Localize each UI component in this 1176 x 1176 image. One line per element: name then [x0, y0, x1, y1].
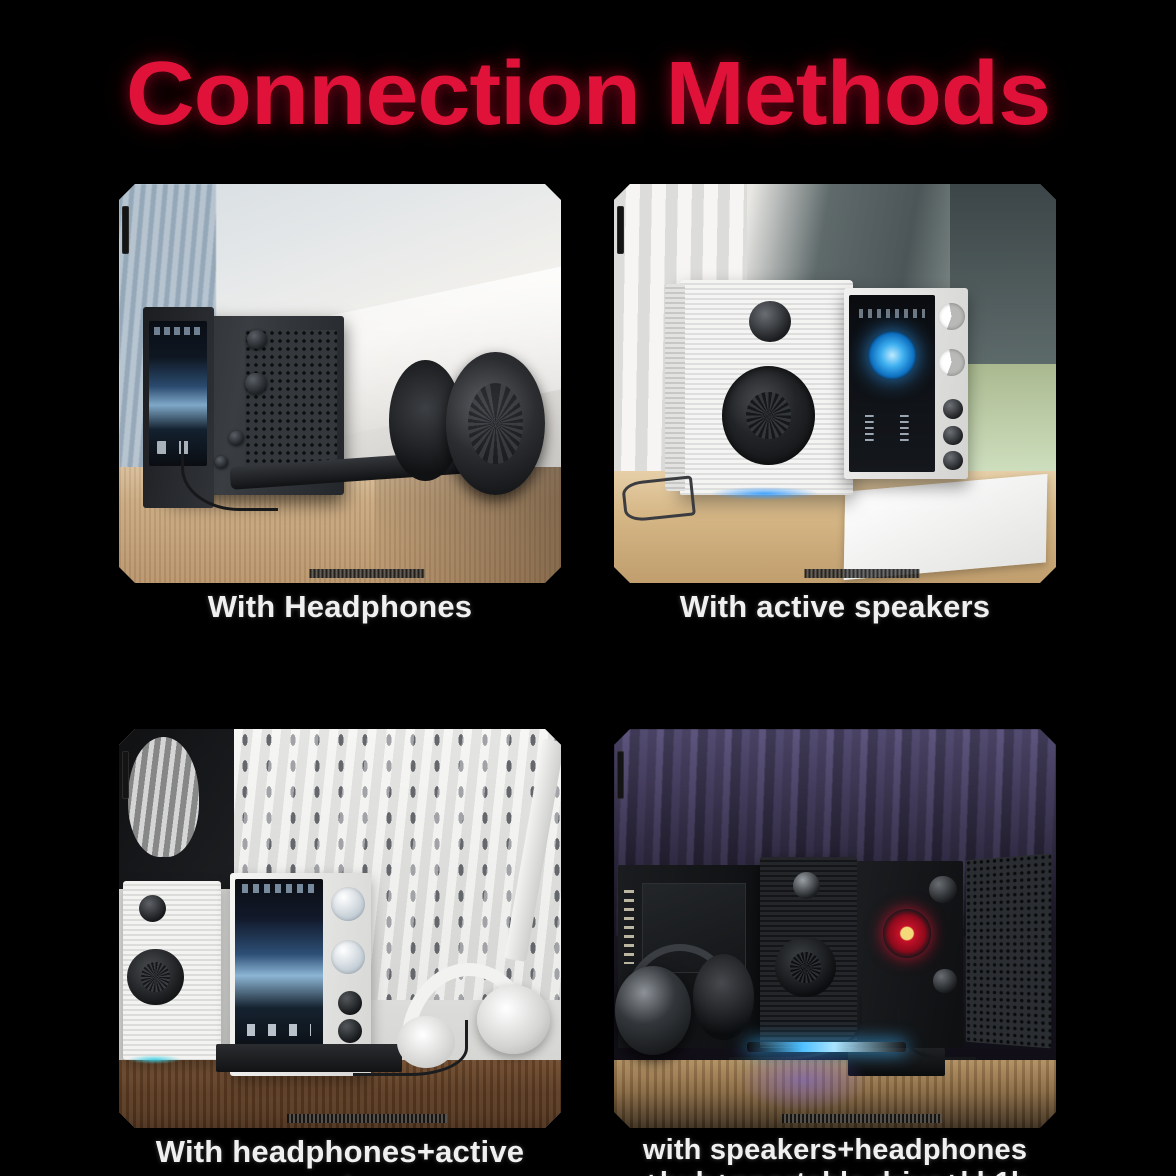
speaker-tweeter — [139, 895, 166, 922]
player-screen — [849, 295, 936, 471]
status-bar-icon — [859, 309, 925, 318]
panel-full-setup-photo[interactable] — [614, 729, 1056, 1128]
panel-active-speakers[interactable]: With active speakers — [614, 184, 1056, 583]
scene-active-speakers — [614, 184, 1056, 583]
volume-knob — [247, 330, 266, 349]
speaker-woofer — [722, 366, 815, 465]
player-port-3 — [943, 451, 963, 471]
headphones — [389, 352, 548, 496]
wall-logo-icon — [128, 737, 199, 857]
white-headphones — [397, 960, 556, 1072]
panel-grid: With Headphones — [0, 184, 1176, 1176]
frame-strip-icon — [309, 569, 424, 578]
scene-full-setup — [614, 729, 1056, 1128]
panel-row-1: With Headphones — [0, 184, 1176, 656]
frame-strip-icon — [287, 1114, 447, 1123]
white-speaker — [123, 881, 220, 1061]
speaker-side-panel — [665, 284, 686, 491]
blue-orb-indicator — [868, 331, 917, 380]
scene-headphones-speakers — [119, 729, 561, 1128]
amp-knob-bottom — [933, 969, 956, 992]
dock-port-1 — [338, 991, 362, 1015]
dock-button-middle — [331, 940, 365, 974]
gain-knob — [245, 373, 266, 394]
scene-headphones — [119, 184, 561, 583]
speaker-led-glow — [127, 1055, 181, 1064]
panel-headphones-speakers[interactable]: With headphones+active speakers — [119, 729, 561, 1128]
player-port-1 — [943, 399, 963, 419]
headphone-earcup-near — [615, 966, 691, 1055]
page-title: Connection Methods — [126, 46, 1050, 142]
frame-strip-icon — [782, 1114, 942, 1123]
panel-headphones-speakers-photo[interactable] — [119, 729, 561, 1128]
speaker-led-glow — [711, 487, 818, 500]
headphone-earcup-near — [446, 352, 545, 496]
frame-tab-icon — [122, 206, 129, 254]
panel-headphones-speakers-caption: With headphones+active speakers — [119, 1134, 561, 1176]
player-screen — [235, 879, 323, 1058]
red-badge-icon — [883, 909, 932, 958]
frame-tab-icon — [617, 206, 624, 254]
dock-button-top — [331, 887, 365, 921]
panel-active-speakers-photo[interactable] — [614, 184, 1056, 583]
speaker-tweeter — [749, 301, 790, 342]
connection-methods-infographic: Connection Methods — [0, 0, 1176, 1176]
panel-headphones-photo[interactable] — [119, 184, 561, 583]
audio-player — [844, 288, 968, 480]
player-port-2 — [943, 426, 963, 446]
frame-tab-icon — [617, 751, 624, 799]
ambient-led-glow — [738, 1048, 871, 1112]
amp-knob-top — [929, 876, 957, 904]
eyeglasses — [621, 476, 696, 523]
page-title-container: Connection Methods — [0, 46, 1176, 142]
speaker-woofer — [775, 937, 835, 997]
portable-drive-mesh-unit — [966, 853, 1052, 1047]
panel-full-setup[interactable]: with speakers+headphones +hub+pportable … — [614, 729, 1056, 1128]
level-meter-icon — [861, 415, 923, 443]
speaker-woofer — [127, 949, 183, 1005]
panel-headphones-caption: With Headphones — [119, 589, 561, 625]
panel-row-2: With headphones+active speakers — [0, 729, 1176, 1176]
headphone-earcup-far — [397, 1016, 454, 1067]
paper-sheet — [843, 474, 1047, 580]
panel-headphones[interactable]: With Headphones — [119, 184, 561, 583]
player-dial-top — [938, 303, 965, 330]
panel-full-setup-caption: with speakers+headphones +hub+pportable … — [614, 1134, 1056, 1176]
headphone-earcup-near — [477, 985, 550, 1054]
active-speaker — [680, 280, 852, 495]
player-dial-bottom — [938, 349, 965, 376]
blue-led-strip — [747, 1042, 906, 1052]
frame-strip-icon — [804, 569, 919, 578]
panel-active-speakers-caption: With active speakers — [614, 589, 1056, 625]
frame-tab-icon — [122, 751, 129, 799]
speaker-tweeter — [793, 872, 820, 899]
